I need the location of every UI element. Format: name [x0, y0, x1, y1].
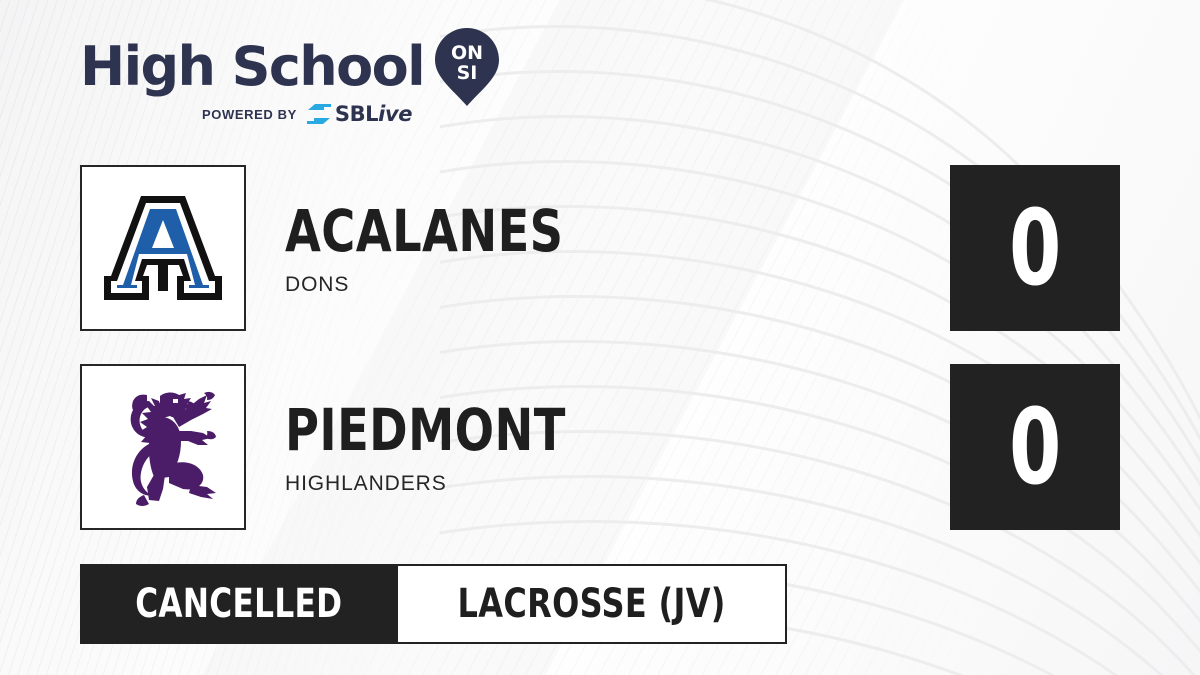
- team-score-value: 0: [1009, 196, 1061, 300]
- status-badge-label: CANCELLED: [135, 584, 342, 624]
- pin-top-label: ON: [451, 42, 483, 64]
- sblive-s-icon: [306, 103, 332, 125]
- game-status-bar: CANCELLED LACROSSE (JV): [80, 564, 787, 644]
- team-logo-card: [80, 165, 246, 331]
- team-name: ACALANES: [285, 202, 564, 260]
- team-score-value: 0: [1009, 395, 1061, 499]
- brand-row: High School ON SI: [80, 34, 510, 100]
- sblive-upper: SBL: [335, 102, 378, 126]
- scoreboard-graphic: High School ON SI POWERED BY SBLive: [0, 0, 1200, 675]
- sblive-wordmark: SBLive: [335, 102, 412, 126]
- on-si-pin-icon: ON SI: [434, 27, 500, 107]
- status-badge: CANCELLED: [80, 564, 398, 644]
- powered-by-label: POWERED BY: [202, 107, 297, 122]
- piedmont-rampant-lion-logo: [103, 387, 223, 507]
- pin-bottom-label: SI: [457, 62, 478, 84]
- team-row: ACALANES DONS 0: [80, 165, 1120, 335]
- team-logo-card: [80, 364, 246, 530]
- team-row: PIEDMONT HIGHLANDERS 0: [80, 364, 1120, 534]
- team-text-block: PIEDMONT HIGHLANDERS: [285, 364, 636, 530]
- team-score-box: 0: [950, 165, 1120, 331]
- sblive-lower: ive: [378, 102, 412, 126]
- sport-label: LACROSSE (JV): [457, 584, 725, 624]
- brand-wordmark: High School: [80, 40, 424, 94]
- team-mascot: HIGHLANDERS: [285, 473, 636, 494]
- acalanes-block-a-logo: [103, 192, 223, 304]
- team-score-box: 0: [950, 364, 1120, 530]
- sport-label-box: LACROSSE (JV): [398, 564, 787, 644]
- team-text-block: ACALANES DONS: [285, 165, 633, 331]
- team-mascot: DONS: [285, 274, 633, 295]
- brand-header: High School ON SI POWERED BY SBLive: [80, 34, 510, 134]
- team-name: PIEDMONT: [285, 401, 566, 459]
